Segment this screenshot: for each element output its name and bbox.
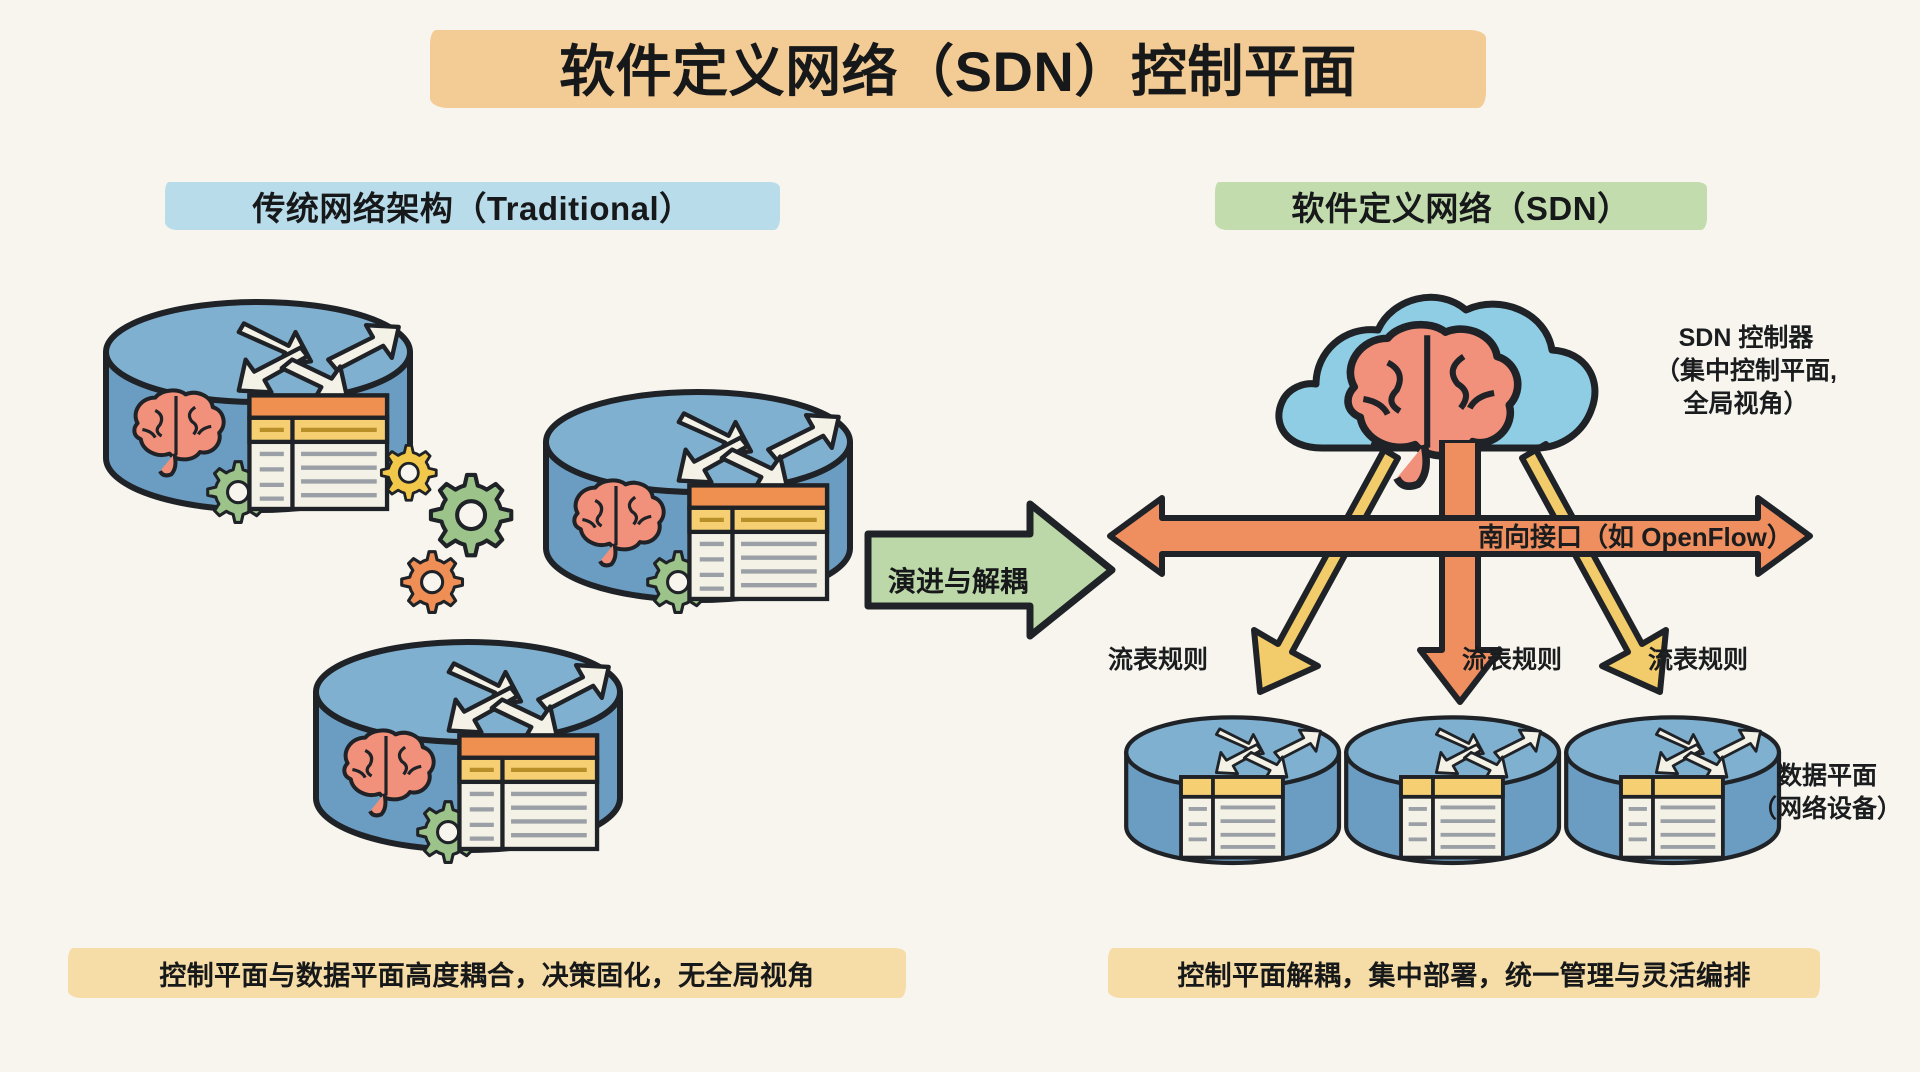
sdn-switch-1 [1122,716,1352,886]
traditional-router-3 [310,640,640,910]
left-panel-caption-text: 控制平面与数据平面高度耦合，决策固化，无全局视角 [159,954,814,993]
diagram-canvas: 软件定义网络（SDN）控制平面 传统网络架构（Traditional） 软件定义… [0,0,1920,1072]
flow-table-icon [1621,777,1723,858]
sdn-controller-label-line1: SDN 控制器 [1679,324,1814,352]
right-panel-header: 软件定义网络（SDN） [1215,182,1707,230]
flow-rule-label-2: 流表规则 [1462,640,1562,676]
flow-table-icon [459,735,597,849]
flow-rule-label-3: 流表规则 [1648,640,1748,676]
right-panel-caption-text: 控制平面解耦，集中部署，统一管理与灵活编排 [1177,954,1750,993]
flow-table-icon [689,485,827,599]
flow-table-icon [249,395,387,509]
sdn-controller-label-line2: （集中控制平面, [1655,357,1837,385]
flow-arrow-left [1254,444,1398,692]
left-panel-header-text: 传统网络架构（Traditional） [252,182,692,230]
evolution-arrow-label: 演进与解耦 [888,560,1028,600]
gear-green-icon [431,475,511,555]
right-panel-header-text: 软件定义网络（SDN） [1291,182,1630,230]
page-title-text: 软件定义网络（SDN）控制平面 [559,27,1357,108]
data-plane-label-line2: （网络设备） [1752,795,1902,823]
left-panel-caption: 控制平面与数据平面高度耦合，决策固化，无全局视角 [68,948,906,998]
flow-rule-label-1: 流表规则 [1108,640,1208,676]
right-panel-caption: 控制平面解耦，集中部署，统一管理与灵活编排 [1108,948,1820,998]
data-plane-label-line1: 数据平面 [1777,762,1877,790]
left-panel-header: 传统网络架构（Traditional） [165,182,780,230]
flow-table-icon [1401,777,1503,858]
sdn-switch-2 [1342,716,1572,886]
gear-cluster [380,440,590,640]
southbound-arrows [1100,440,1820,740]
sdn-controller-label: SDN 控制器 （集中控制平面, 全局视角） [1655,322,1837,421]
gear-yellow-icon [381,445,436,500]
sdn-controller-label-line3: 全局视角） [1683,390,1808,418]
southbound-interface-label: 南向接口（如 OpenFlow） [1478,520,1793,554]
data-plane-label: 数据平面 （网络设备） [1752,760,1902,826]
gear-orange-icon [402,552,463,613]
page-title: 软件定义网络（SDN）控制平面 [430,30,1486,108]
flow-table-icon [1181,777,1283,858]
